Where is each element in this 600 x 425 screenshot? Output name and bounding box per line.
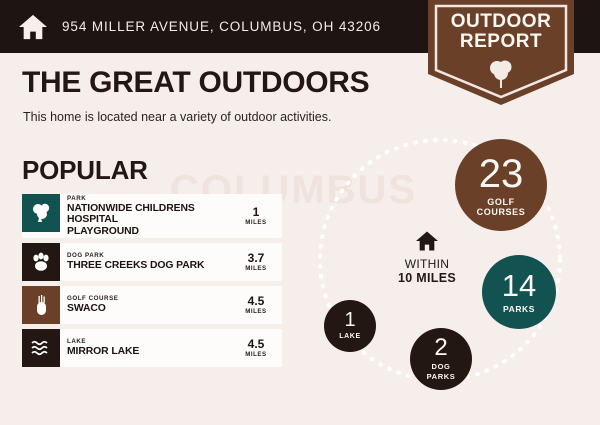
- center-line-2: 10 MILES: [382, 271, 472, 285]
- center-line-1: WITHIN: [382, 257, 472, 271]
- list-item[interactable]: GOLF COURSE SWACO 4.5 MILES: [22, 286, 282, 324]
- badge-line-2: REPORT: [428, 32, 574, 52]
- park-tree-icon: [22, 194, 60, 232]
- stat-label-2: PARKS: [427, 372, 456, 382]
- list-item-name: SWACO: [67, 303, 230, 315]
- list-item-name: NATIONWIDE CHILDRENS HOSPITAL: [67, 203, 230, 226]
- list-item-distance: 3.7 MILES: [234, 243, 282, 281]
- list-item-distance: 4.5 MILES: [234, 329, 282, 367]
- stat-label-2: COURSES: [477, 207, 526, 217]
- list-item-distance: 1 MILES: [234, 194, 282, 238]
- cluster-center: WITHIN 10 MILES: [382, 230, 472, 285]
- popular-list: PARK NATIONWIDE CHILDRENS HOSPITAL PLAYG…: [22, 194, 282, 372]
- distance-unit: MILES: [245, 351, 266, 359]
- stat-value: 23: [479, 154, 524, 194]
- list-item-name: THREE CREEKS DOG PARK: [67, 260, 230, 272]
- distance-unit: MILES: [245, 219, 266, 227]
- list-item[interactable]: PARK NATIONWIDE CHILDRENS HOSPITAL PLAYG…: [22, 194, 282, 238]
- stat-value: 1: [344, 310, 355, 330]
- list-item-category: PARK: [67, 195, 230, 203]
- stat-circle-dog-parks[interactable]: 2 DOG PARKS: [410, 328, 472, 390]
- list-item-distance: 4.5 MILES: [234, 286, 282, 324]
- stat-label: PARKS: [503, 304, 535, 314]
- badge-title: OUTDOOR REPORT: [428, 12, 574, 52]
- stat-circle-golf-courses[interactable]: 23 GOLF COURSES: [455, 139, 547, 231]
- stat-value: 2: [434, 336, 447, 360]
- list-item[interactable]: DOG PARK THREE CREEKS DOG PARK 3.7 MILES: [22, 243, 282, 281]
- list-item-category: LAKE: [67, 338, 230, 346]
- page-title: THE GREAT OUTDOORS: [22, 66, 369, 100]
- distance-unit: MILES: [245, 308, 266, 316]
- home-icon: [18, 13, 48, 41]
- distance-value: 3.7: [248, 252, 265, 265]
- distance-unit: MILES: [245, 265, 266, 273]
- tree-icon: [488, 58, 514, 88]
- list-item-name: MIRROR LAKE: [67, 346, 230, 358]
- popular-heading: POPULAR: [22, 155, 148, 186]
- list-item-category: GOLF COURSE: [67, 295, 230, 303]
- distance-value: 4.5: [248, 338, 265, 351]
- list-item-category: DOG PARK: [67, 252, 230, 260]
- page-subtitle: This home is located near a variety of o…: [23, 110, 331, 124]
- list-item[interactable]: LAKE MIRROR LAKE 4.5 MILES: [22, 329, 282, 367]
- stat-circle-parks[interactable]: 14 PARKS: [482, 255, 556, 329]
- stat-value: 14: [502, 270, 536, 301]
- paw-icon: [22, 243, 60, 281]
- distance-value: 4.5: [248, 295, 265, 308]
- golf-bag-icon: [22, 286, 60, 324]
- outdoor-report-infographic: COLUMBUS 954 MILLER AVENUE, COLUMBUS, OH…: [0, 0, 600, 425]
- stat-label: LAKE: [339, 332, 360, 342]
- property-address: 954 MILLER AVENUE, COLUMBUS, OH 43206: [62, 19, 381, 34]
- stat-label: DOG: [432, 362, 451, 372]
- outdoor-report-badge: OUTDOOR REPORT: [428, 0, 574, 105]
- badge-line-1: OUTDOOR: [428, 12, 574, 32]
- waves-icon: [22, 329, 60, 367]
- stat-circle-lake[interactable]: 1 LAKE: [324, 300, 376, 352]
- list-item-name-2: PLAYGROUND: [67, 226, 230, 238]
- home-icon: [415, 239, 439, 256]
- amenities-cluster: 23 GOLF COURSES 14 PARKS 1 LAKE 2 DOG PA…: [300, 130, 600, 415]
- distance-value: 1: [253, 206, 260, 219]
- stat-label: GOLF: [487, 197, 514, 207]
